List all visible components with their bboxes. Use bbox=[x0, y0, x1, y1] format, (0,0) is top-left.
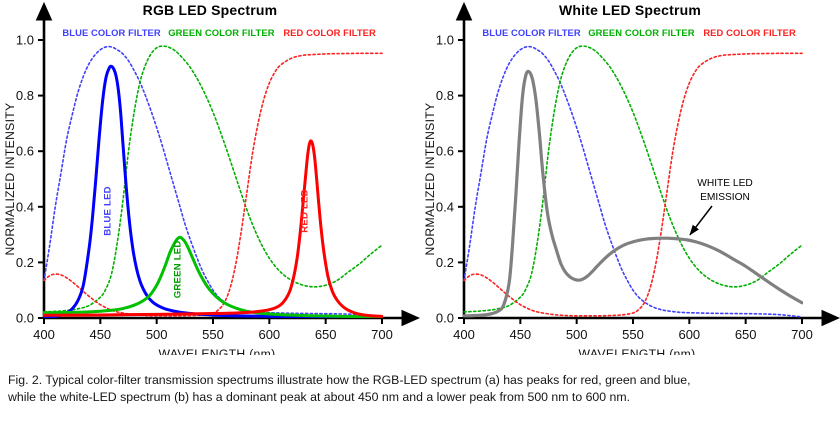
series-label-red-led: RED LED bbox=[300, 189, 311, 233]
legend-label-blue-color-filter: BLUE COLOR FILTER bbox=[482, 27, 581, 38]
legend-label-green-color-filter: GREEN COLOR FILTER bbox=[588, 27, 694, 38]
x-tick-label-450: 450 bbox=[509, 327, 531, 342]
x-tick-label-500: 500 bbox=[146, 327, 168, 342]
chart-panel-rgb-led: RGB LED Spectrum 4004505005506006507000.… bbox=[0, 0, 420, 355]
tick-group: 4004505005506006507000.00.20.40.60.81.0 bbox=[16, 33, 393, 343]
white-led-spectrum-chart: 4004505005506006507000.00.20.40.60.81.0W… bbox=[420, 0, 840, 355]
y-tick-label-0.8: 0.8 bbox=[436, 88, 454, 103]
y-tick-label-0.0: 0.0 bbox=[16, 311, 34, 326]
x-tick-label-650: 650 bbox=[315, 327, 337, 342]
figure-caption: Fig. 2. Typical color-filter transmissio… bbox=[8, 372, 832, 407]
legend-label-green-color-filter: GREEN COLOR FILTER bbox=[168, 27, 274, 38]
x-tick-label-600: 600 bbox=[678, 327, 700, 342]
annotation-white-led-emission-line1: WHITE LED bbox=[697, 178, 752, 189]
x-tick-label-450: 450 bbox=[89, 327, 111, 342]
chart-panel-white-led: White LED Spectrum 400450500550600650700… bbox=[420, 0, 840, 355]
x-tick-label-500: 500 bbox=[566, 327, 588, 342]
y-tick-label-1.0: 1.0 bbox=[436, 33, 454, 48]
figure-container: RGB LED Spectrum 4004505005506006507000.… bbox=[0, 0, 840, 426]
x-tick-label-650: 650 bbox=[735, 327, 757, 342]
y-tick-label-0.4: 0.4 bbox=[16, 199, 34, 214]
y-tick-label-0.6: 0.6 bbox=[436, 144, 454, 159]
x-tick-label-700: 700 bbox=[791, 327, 813, 342]
x-axis-title: WAVELENGTH (nm) bbox=[159, 347, 276, 355]
tick-group: 4004505005506006507000.00.20.40.60.81.0 bbox=[436, 33, 813, 343]
series-label-green-led: GREEN LED bbox=[172, 240, 183, 298]
y-tick-label-0.8: 0.8 bbox=[16, 88, 34, 103]
y-axis-title: NORMALIZED INTENSITY bbox=[423, 103, 437, 256]
series-group bbox=[44, 46, 382, 317]
caption-line-2: while the white-LED spectrum (b) has a d… bbox=[8, 389, 832, 406]
y-tick-label-0.0: 0.0 bbox=[436, 311, 454, 326]
x-axis-title: WAVELENGTH (nm) bbox=[579, 347, 696, 355]
legend-label-red-color-filter: RED COLOR FILTER bbox=[283, 27, 376, 38]
y-axis-title: NORMALIZED INTENSITY bbox=[3, 103, 17, 256]
y-tick-label-0.2: 0.2 bbox=[436, 255, 454, 270]
caption-line-1: Fig. 2. Typical color-filter transmissio… bbox=[8, 372, 832, 389]
series-green-led bbox=[44, 237, 382, 317]
rgb-led-spectrum-chart: 4004505005506006507000.00.20.40.60.81.0W… bbox=[0, 0, 420, 355]
x-tick-label-550: 550 bbox=[202, 327, 224, 342]
series-label-blue-led: BLUE LED bbox=[102, 186, 113, 236]
legend-label-blue-color-filter: BLUE COLOR FILTER bbox=[62, 27, 161, 38]
series-blue-led bbox=[44, 66, 382, 317]
filter-legend: BLUE COLOR FILTERGREEN COLOR FILTERRED C… bbox=[482, 27, 796, 38]
series-white-led-emission bbox=[464, 71, 802, 315]
y-tick-label-0.6: 0.6 bbox=[16, 144, 34, 159]
annotation-arrow-white-led-emission bbox=[690, 206, 712, 235]
x-tick-label-700: 700 bbox=[371, 327, 393, 342]
legend-label-red-color-filter: RED COLOR FILTER bbox=[703, 27, 796, 38]
y-tick-label-0.2: 0.2 bbox=[16, 255, 34, 270]
x-tick-label-400: 400 bbox=[33, 327, 55, 342]
y-tick-label-1.0: 1.0 bbox=[16, 33, 34, 48]
filter-legend: BLUE COLOR FILTERGREEN COLOR FILTERRED C… bbox=[62, 27, 376, 38]
y-tick-label-0.4: 0.4 bbox=[436, 199, 454, 214]
x-tick-label-550: 550 bbox=[622, 327, 644, 342]
annotation-white-led-emission-line2: EMISSION bbox=[700, 192, 750, 203]
x-tick-label-600: 600 bbox=[258, 327, 280, 342]
x-tick-label-400: 400 bbox=[453, 327, 475, 342]
